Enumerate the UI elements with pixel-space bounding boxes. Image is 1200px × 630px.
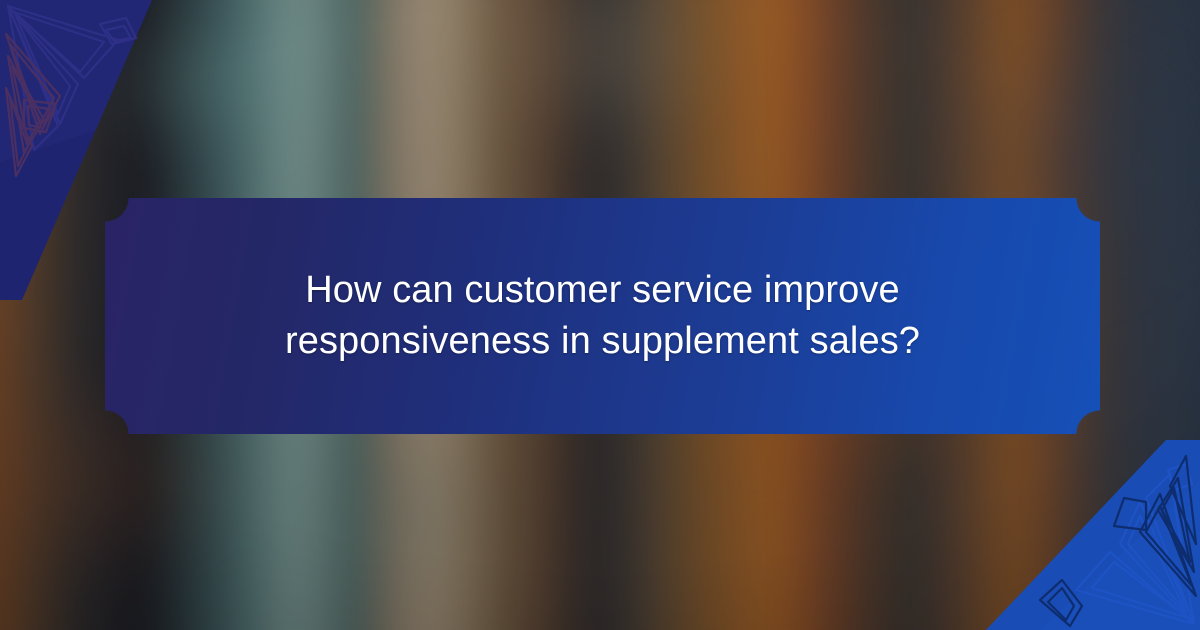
question-card-inner: How can customer service improve respons… xyxy=(243,265,963,368)
question-card: How can customer service improve respons… xyxy=(105,198,1100,434)
question-headline: How can customer service improve respons… xyxy=(243,265,963,368)
share-card-canvas: How can customer service improve respons… xyxy=(0,0,1200,630)
